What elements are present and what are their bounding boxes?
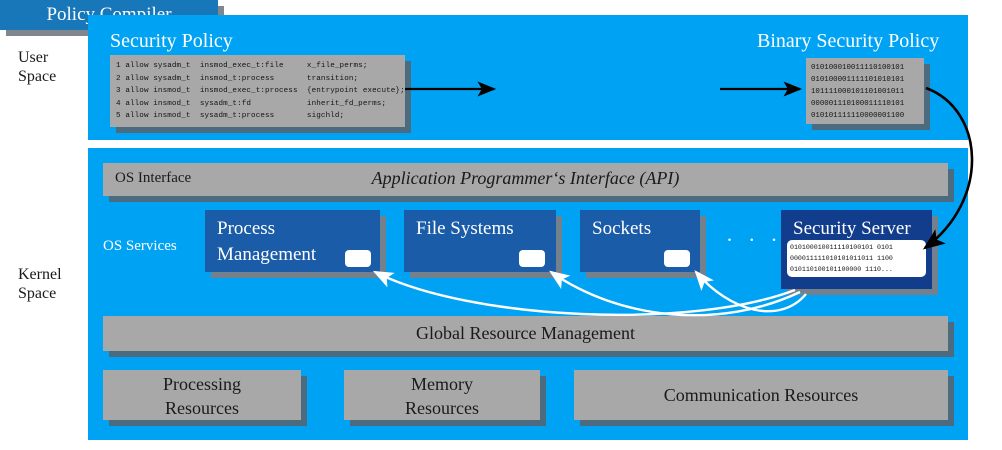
api-label: Application Programmer‘s Interface (API) [103, 168, 948, 189]
resource-memory-label: MemoryResources [344, 370, 540, 420]
label-user-space: UserSpace [18, 48, 56, 86]
resource-memory: MemoryResources [344, 370, 540, 420]
service-file-systems-callout-bubble [519, 250, 545, 267]
binary-security-policy-box: 010100010011110100101 010100001111101010… [806, 58, 924, 124]
resource-communication-label: Communication Resources [574, 370, 948, 420]
service-file-systems[interactable]: File Systems [404, 210, 556, 272]
os-interface-bar: OS Interface Application Programmer‘s In… [103, 163, 948, 196]
service-sockets-callout-bubble [664, 250, 690, 267]
security-server-label: Security Server [793, 216, 911, 242]
os-services-label: OS Services [103, 238, 177, 255]
service-process-management[interactable]: ProcessManagement [205, 210, 380, 272]
global-resource-management-bar: Global Resource Management [103, 316, 948, 351]
binary-security-policy-bits: 010100010011110100101 010100001111101010… [811, 62, 904, 122]
service-sockets-label: Sockets [592, 216, 651, 242]
security-server-box[interactable]: Security Server 010100010011110100101 01… [781, 210, 932, 289]
diagram-canvas: UserSpace KernelSpace Security Policy 1 … [0, 0, 1002, 450]
security-policy-code-box: 1 allow sysadm_t insmod_exec_t:file x_fi… [110, 55, 405, 127]
resource-communication: Communication Resources [574, 370, 948, 420]
security-policy-code-text: 1 allow sysadm_t insmod_exec_t:file x_fi… [116, 60, 401, 123]
services-ellipsis: · · · [726, 228, 782, 253]
resource-processing-label: ProcessingResources [103, 370, 301, 420]
global-resource-management-label: Global Resource Management [103, 316, 948, 351]
label-kernel-space: KernelSpace [18, 265, 62, 303]
binary-security-policy-title: Binary Security Policy [757, 30, 939, 53]
resource-processing: ProcessingResources [103, 370, 301, 420]
service-process-management-label: ProcessManagement [217, 216, 316, 268]
security-policy-title: Security Policy [110, 30, 233, 53]
service-process-management-callout-bubble [345, 250, 371, 267]
service-file-systems-label: File Systems [416, 216, 514, 242]
service-sockets[interactable]: Sockets [580, 210, 700, 272]
security-server-cache-callout: 010100010011110100101 0101 0000111110101… [787, 240, 926, 277]
security-server-cache-bits: 010100010011110100101 0101 0000111110101… [790, 242, 893, 275]
